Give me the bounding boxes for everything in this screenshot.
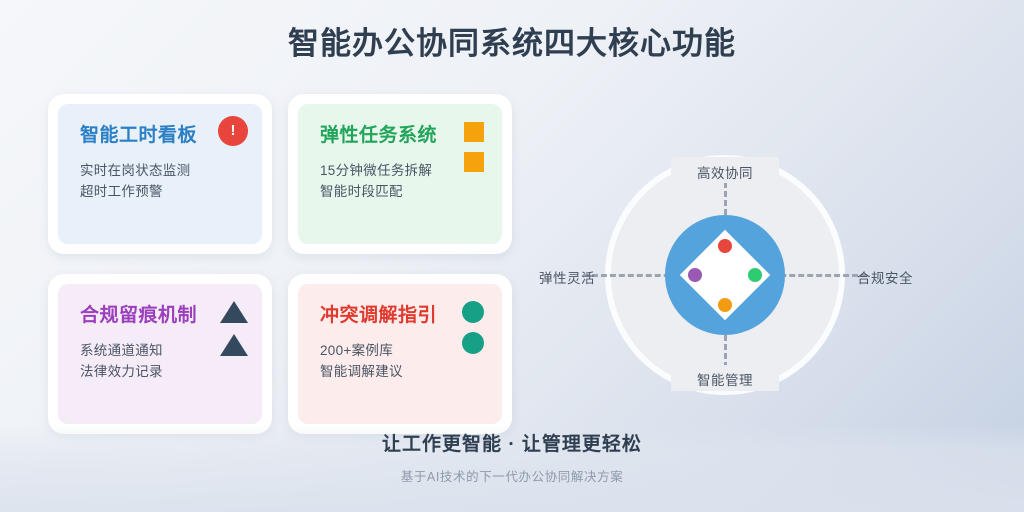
- alert-badge-icon: !: [218, 116, 248, 146]
- diagram-dot-left: [688, 268, 702, 282]
- feature-card-flexible-task[interactable]: 弹性任务系统 15分钟微任务拆解 智能时段匹配: [288, 94, 512, 254]
- triangle-up-icon: [220, 334, 248, 356]
- footer-tagline: 让工作更智能 · 让管理更轻松: [0, 429, 1024, 456]
- four-pillar-diagram: 高效协同 合规安全 智能管理 弹性灵活: [605, 155, 845, 395]
- green-dot-icon: [462, 301, 484, 323]
- triangle-up-icon: [220, 301, 248, 323]
- orange-square-icon: [464, 152, 484, 172]
- feature-card-panel: 智能工时看板 实时在岗状态监测 超时工作预警 !: [58, 104, 262, 244]
- feature-card-line: 实时在岗状态监测: [80, 160, 240, 181]
- feature-card-smart-timesheet[interactable]: 智能工时看板 实时在岗状态监测 超时工作预警 !: [48, 94, 272, 254]
- feature-card-conflict-mediation[interactable]: 冲突调解指引 200+案例库 智能调解建议: [288, 274, 512, 434]
- diagram-label-bottom: 智能管理: [671, 369, 779, 389]
- feature-card-line: 系统通道通知: [80, 340, 240, 361]
- green-dot-icon: [462, 332, 484, 354]
- diagram-label-top: 高效协同: [671, 162, 779, 182]
- diagram-label-left: 弹性灵活: [539, 267, 595, 287]
- feature-card-line: 15分钟微任务拆解: [320, 160, 480, 181]
- feature-card-line: 智能调解建议: [320, 361, 480, 382]
- diagram-dot-right: [748, 268, 762, 282]
- diagram-dot-bottom: [718, 298, 732, 312]
- feature-card-title: 合规留痕机制: [80, 304, 240, 328]
- feature-card-line: 超时工作预警: [80, 181, 240, 202]
- feature-card-title: 智能工时看板: [80, 124, 240, 148]
- footer-subtitle: 基于AI技术的下一代办公协同解决方案: [0, 466, 1024, 485]
- orange-square-icon: [464, 122, 484, 142]
- feature-card-compliance-trace[interactable]: 合规留痕机制 系统通道通知 法律效力记录: [48, 274, 272, 434]
- feature-card-panel: 弹性任务系统 15分钟微任务拆解 智能时段匹配: [298, 104, 502, 244]
- infographic-canvas: 智能办公协同系统四大核心功能 智能工时看板 实时在岗状态监测 超时工作预警 ! …: [0, 0, 1024, 512]
- feature-card-panel: 合规留痕机制 系统通道通知 法律效力记录: [58, 284, 262, 424]
- page-title: 智能办公协同系统四大核心功能: [0, 24, 1024, 64]
- feature-card-line: 200+案例库: [320, 340, 480, 361]
- feature-card-title: 弹性任务系统: [320, 124, 480, 148]
- feature-card-line: 法律效力记录: [80, 361, 240, 382]
- diagram-label-right: 合规安全: [857, 267, 913, 287]
- diagram-dot-top: [718, 239, 732, 253]
- feature-card-line: 智能时段匹配: [320, 181, 480, 202]
- feature-card-panel: 冲突调解指引 200+案例库 智能调解建议: [298, 284, 502, 424]
- feature-card-title: 冲突调解指引: [320, 304, 480, 328]
